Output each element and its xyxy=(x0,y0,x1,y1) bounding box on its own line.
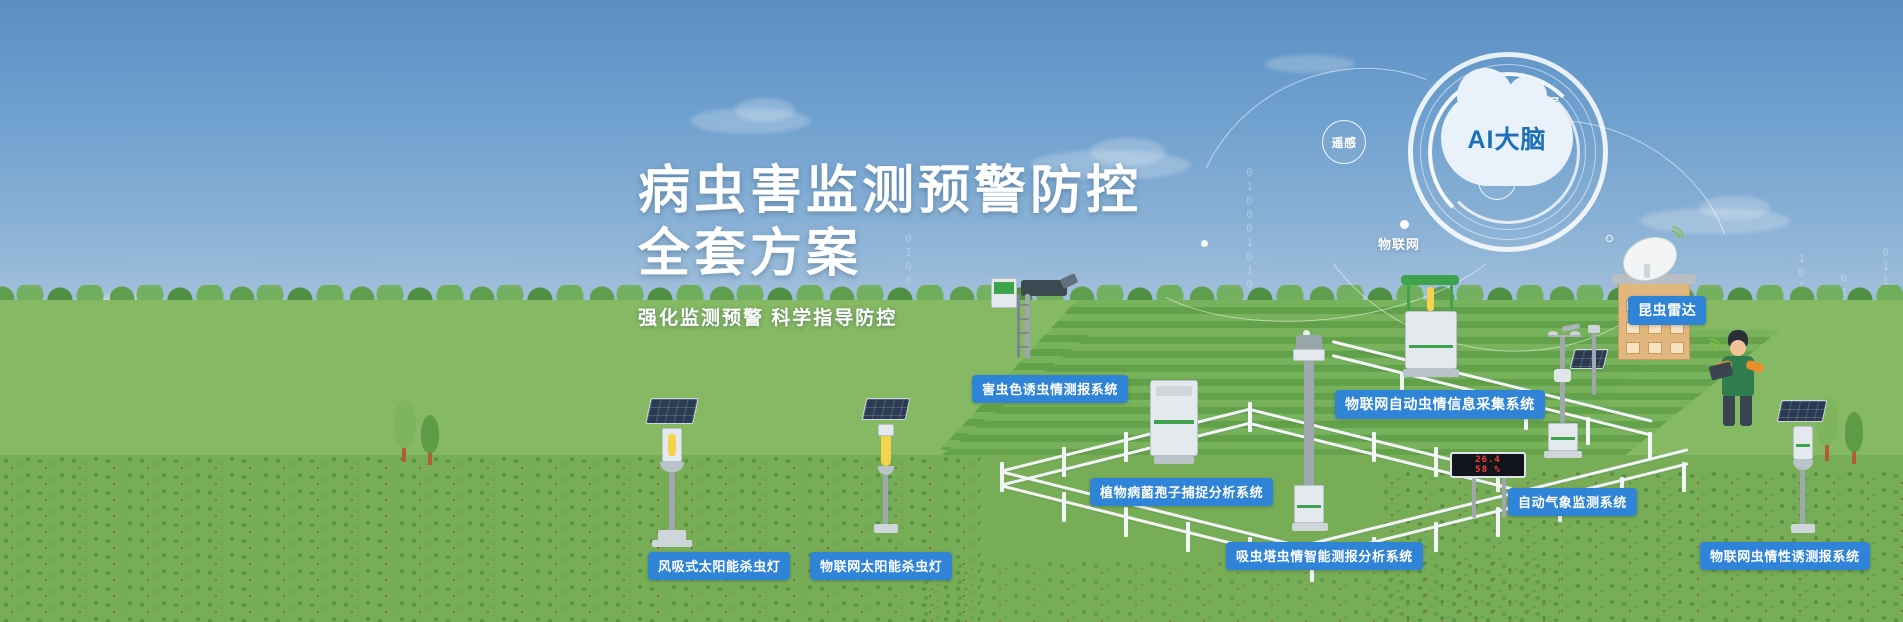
sensor-pole xyxy=(1592,333,1596,395)
collection-funnel xyxy=(660,462,684,472)
status-strip xyxy=(1409,345,1453,348)
fence-post xyxy=(1434,447,1438,477)
dish-mount xyxy=(1644,264,1650,278)
fence-post xyxy=(1124,507,1128,537)
led-post xyxy=(1502,478,1506,518)
led-post xyxy=(1472,478,1476,518)
canopy-leg xyxy=(1407,285,1410,311)
uv-lamp xyxy=(1427,287,1434,311)
device-label-suction-tower[interactable]: 吸虫塔虫情智能测报分析系统 xyxy=(1226,542,1423,570)
collection-cup xyxy=(878,466,894,475)
device-iot-auto-pest-collector[interactable] xyxy=(1395,275,1475,395)
page-title-line-2: 全套方案 xyxy=(638,223,1142,286)
page-subtitle: 强化监测预警 科学指导防控 xyxy=(638,303,1142,330)
device-label-auto-weather-station[interactable]: 自动气象监测系统 xyxy=(1508,488,1637,516)
device-iot-solar-insect-lamp[interactable] xyxy=(860,398,920,538)
device-soil-sensor-pole[interactable] xyxy=(1580,325,1610,405)
tree-crown xyxy=(1845,412,1863,452)
fence-post xyxy=(1372,432,1376,462)
fence-post xyxy=(1648,432,1652,460)
tree xyxy=(418,415,442,465)
tree-crown xyxy=(421,415,439,453)
device-label-spore-capture-analyzer[interactable]: 植物病菌孢子捕捉分析系统 xyxy=(1090,478,1273,506)
device-label-iot-solar-insect-lamp[interactable]: 物联网太阳能杀虫灯 xyxy=(810,552,952,580)
fence-post xyxy=(1062,492,1066,522)
fence-post xyxy=(1682,462,1686,492)
led-screen: 26.4 58 % xyxy=(1450,452,1526,478)
status-strip xyxy=(1154,420,1194,424)
intake-vent xyxy=(1156,386,1192,396)
trap-funnel xyxy=(1793,460,1813,470)
status-strip xyxy=(1551,437,1575,440)
device-label-iot-auto-pest-collector[interactable]: 物联网自动虫情信息采集系统 xyxy=(1335,390,1545,419)
device-iot-pheromone-report[interactable] xyxy=(1775,400,1845,540)
building-window xyxy=(1670,342,1684,354)
tower-control-box xyxy=(1294,485,1324,523)
tree xyxy=(1842,412,1866,464)
uv-lamp xyxy=(668,434,676,456)
support-pole xyxy=(669,472,675,534)
fence-post xyxy=(1186,522,1190,552)
crop-texture xyxy=(0,455,980,622)
tree-crown xyxy=(394,400,416,448)
hero-title-block: 病虫害监测预警防控 全套方案 强化监测预警 科学指导防控 xyxy=(638,160,1142,330)
collector-foot xyxy=(1403,369,1459,377)
infographic-banner: 01000101011010 0100101101 01010011010110… xyxy=(0,0,1903,622)
collector-body xyxy=(1405,311,1457,369)
status-strip xyxy=(1297,505,1321,508)
fence-post xyxy=(1124,432,1128,462)
sensor-head xyxy=(1588,325,1600,333)
device-spore-capture-analyzer[interactable] xyxy=(1150,380,1210,470)
building-window xyxy=(1648,342,1662,354)
solar-panel xyxy=(1777,400,1828,422)
fence-post xyxy=(1062,447,1066,477)
uv-lamp xyxy=(881,436,891,466)
ai-brain-hub: AI大脑 xyxy=(1408,52,1608,252)
device-label-iot-pheromone-report[interactable]: 物联网虫情性诱测报系统 xyxy=(1700,542,1870,570)
tower-head xyxy=(1296,335,1322,349)
fence-post xyxy=(1434,522,1438,552)
lamp-base-plate xyxy=(652,540,692,547)
hub-dot-terminal xyxy=(1201,240,1208,247)
mast-rung xyxy=(1017,346,1029,348)
solar-panel xyxy=(645,398,699,424)
hub-node-label: 遥感 xyxy=(1331,134,1356,151)
device-label-pest-color-lure-monitoring[interactable]: 害虫色诱虫情测报系统 xyxy=(972,375,1128,403)
pheromone-trap-housing xyxy=(1793,426,1813,460)
anemometer-arm xyxy=(1548,335,1582,337)
tower-intake xyxy=(1293,349,1325,361)
page-title-line-1: 病虫害监测预警防控 xyxy=(638,160,1142,223)
lamp-housing xyxy=(878,424,894,436)
canopy-leg xyxy=(1450,285,1453,311)
cloud-shape xyxy=(735,98,795,122)
led-line-1: 26.4 xyxy=(1475,455,1501,465)
support-pole xyxy=(1800,470,1805,526)
worker-head xyxy=(1730,340,1746,356)
fence-post xyxy=(1248,402,1252,432)
cabinet-foot xyxy=(1154,456,1194,464)
worker-leg xyxy=(1740,396,1752,426)
station-base xyxy=(1544,451,1582,458)
device-label-wind-suction-solar-insect-lamp[interactable]: 风吸式太阳能杀虫灯 xyxy=(648,552,790,580)
mast-rung xyxy=(1017,332,1029,334)
status-strip xyxy=(1796,444,1810,447)
radiation-shield xyxy=(1554,369,1571,382)
support-pole xyxy=(883,475,888,527)
device-wind-suction-solar-insect-lamp[interactable] xyxy=(640,398,710,548)
led-line-2: 58 % xyxy=(1475,465,1501,475)
tree xyxy=(390,400,418,462)
ai-brain-core: AI大脑 xyxy=(1441,90,1573,186)
worker-leg xyxy=(1723,396,1735,426)
lamp-base xyxy=(874,524,898,533)
ai-brain-label: AI大脑 xyxy=(1441,90,1573,186)
device-label-insect-radar[interactable]: 昆虫雷达 xyxy=(1628,296,1706,325)
trap-base xyxy=(1791,524,1815,533)
field-worker-figure xyxy=(1710,330,1770,430)
device-suction-tower[interactable] xyxy=(1282,335,1342,535)
tower-base xyxy=(1292,523,1328,531)
fence-post xyxy=(1000,462,1004,492)
building-window xyxy=(1626,342,1640,354)
solar-panel xyxy=(862,398,911,420)
hub-node-remote-sensing[interactable]: 遥感 xyxy=(1322,120,1366,164)
collector-canopy xyxy=(1401,275,1459,285)
